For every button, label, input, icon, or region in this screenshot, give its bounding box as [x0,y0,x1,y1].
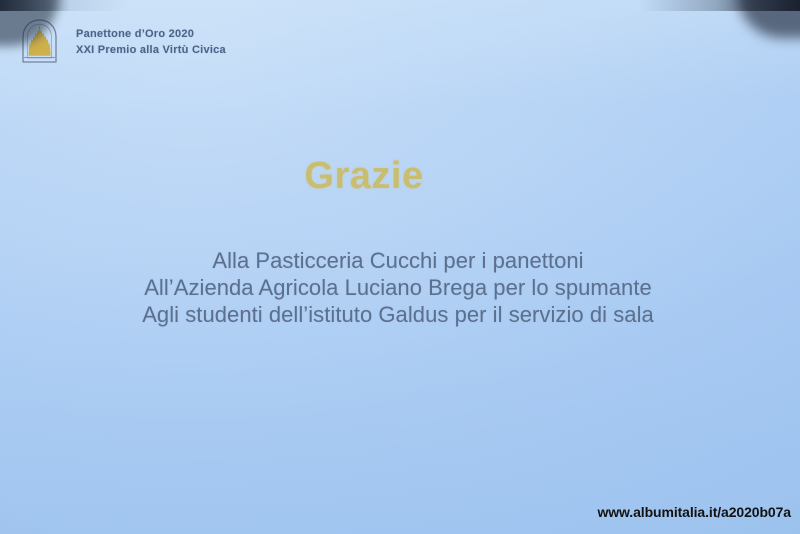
acknowledgement-line: Agli studenti dell’istituto Galdus per i… [0,301,796,328]
acknowledgement-line: All’Azienda Agricola Luciano Brega per l… [0,274,796,301]
header-title-block: Panettone d’Oro 2020 XXI Premio alla Vir… [76,26,226,58]
panettone-slice-duomo-icon [14,17,66,67]
event-subtitle: XXI Premio alla Virtù Civica [76,44,226,58]
slide-header: Panettone d’Oro 2020 XXI Premio alla Vir… [14,17,226,67]
acknowledgements-list: Alla Pasticceria Cucchi per i panettoni … [0,247,800,328]
projected-slide-photo: Panettone d’Oro 2020 XXI Premio alla Vir… [0,0,800,534]
photo-watermark: www.albumitalia.it/a2020b07a [597,504,791,520]
acknowledgement-line: Alla Pasticceria Cucchi per i panettoni [0,247,796,274]
grazie-heading: Grazie [0,155,800,198]
event-title: Panettone d’Oro 2020 [76,28,226,42]
